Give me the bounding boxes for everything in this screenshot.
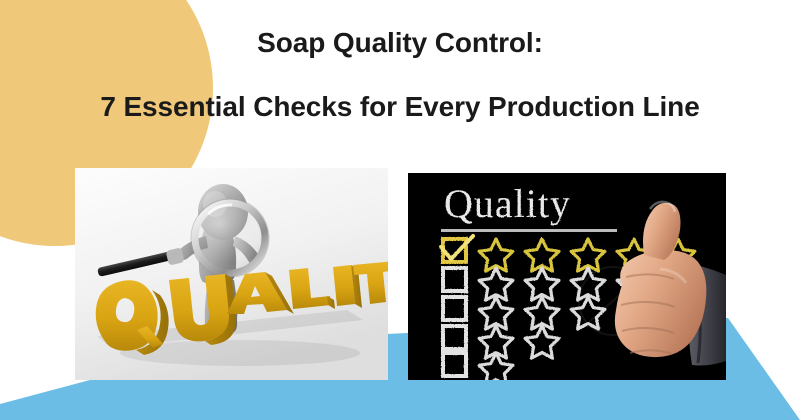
quality-inspector-photo (75, 168, 388, 380)
title-underline (441, 229, 617, 232)
quality-rating-photo: Quality (408, 173, 726, 380)
promo-banner: Soap Quality Control: 7 Essential Checks… (0, 0, 800, 420)
headline-line-2: 7 Essential Checks for Every Production … (0, 86, 800, 128)
svg-text:Quality: Quality (444, 181, 571, 226)
page-title: Soap Quality Control: 7 Essential Checks… (0, 22, 800, 128)
rating-title: Quality (444, 181, 571, 226)
headline-line-1: Soap Quality Control: (0, 22, 800, 64)
